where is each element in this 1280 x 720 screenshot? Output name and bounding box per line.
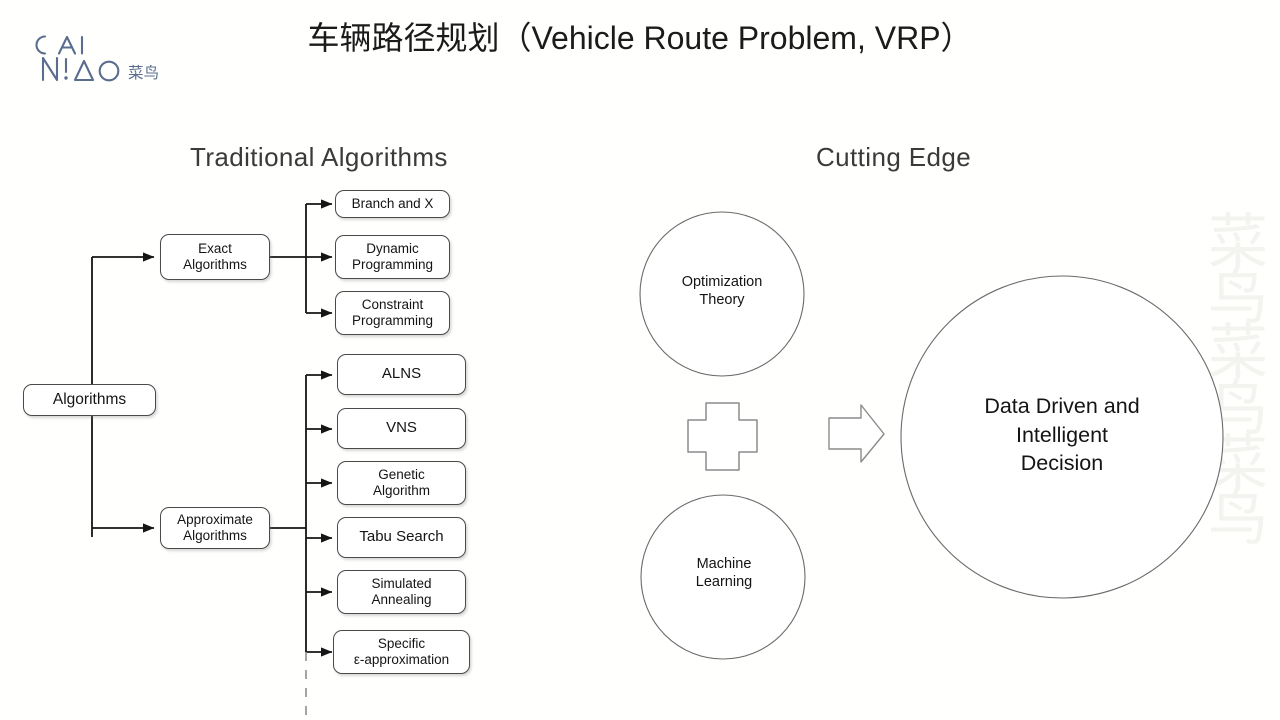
section-header-traditional: Traditional Algorithms <box>190 142 448 173</box>
cainiao-logo: 菜鸟 <box>28 28 188 86</box>
node-root-algorithms[interactable]: Algorithms <box>23 384 156 416</box>
slide-canvas: 菜鸟菜鸟菜鸟 菜鸟 车辆 <box>0 0 1280 720</box>
label-machine-learning: Machine Learning <box>642 556 806 592</box>
svg-text:菜鸟: 菜鸟 <box>128 64 159 82</box>
node-exact-algorithms[interactable]: Exact Algorithms <box>160 234 270 280</box>
section-header-cutting-edge: Cutting Edge <box>816 142 971 173</box>
node-genetic-algorithm[interactable]: Genetic Algorithm <box>337 461 466 505</box>
node-dynamic-programming[interactable]: Dynamic Programming <box>335 235 450 279</box>
node-vns[interactable]: VNS <box>337 408 466 449</box>
right-arrow-icon <box>829 405 884 462</box>
node-approximate-algorithms[interactable]: Approximate Algorithms <box>160 507 270 549</box>
plus-icon <box>688 403 757 470</box>
label-optimization-theory: Optimization Theory <box>640 274 804 310</box>
node-constraint-programming[interactable]: Constraint Programming <box>335 291 450 335</box>
label-data-driven-decision: Data Driven and Intelligent Decision <box>930 392 1194 478</box>
node-alns[interactable]: ALNS <box>337 354 466 395</box>
page-title: 车辆路径规划（Vehicle Route Problem, VRP） <box>240 14 1040 64</box>
node-simulated-annealing[interactable]: Simulated Annealing <box>337 570 466 614</box>
node-tabu-search[interactable]: Tabu Search <box>337 517 466 558</box>
diagram-connectors <box>0 0 1280 720</box>
node-specific-epsilon-approximation[interactable]: Specific ε-approximation <box>333 630 470 674</box>
node-branch-and-x[interactable]: Branch and X <box>335 190 450 218</box>
